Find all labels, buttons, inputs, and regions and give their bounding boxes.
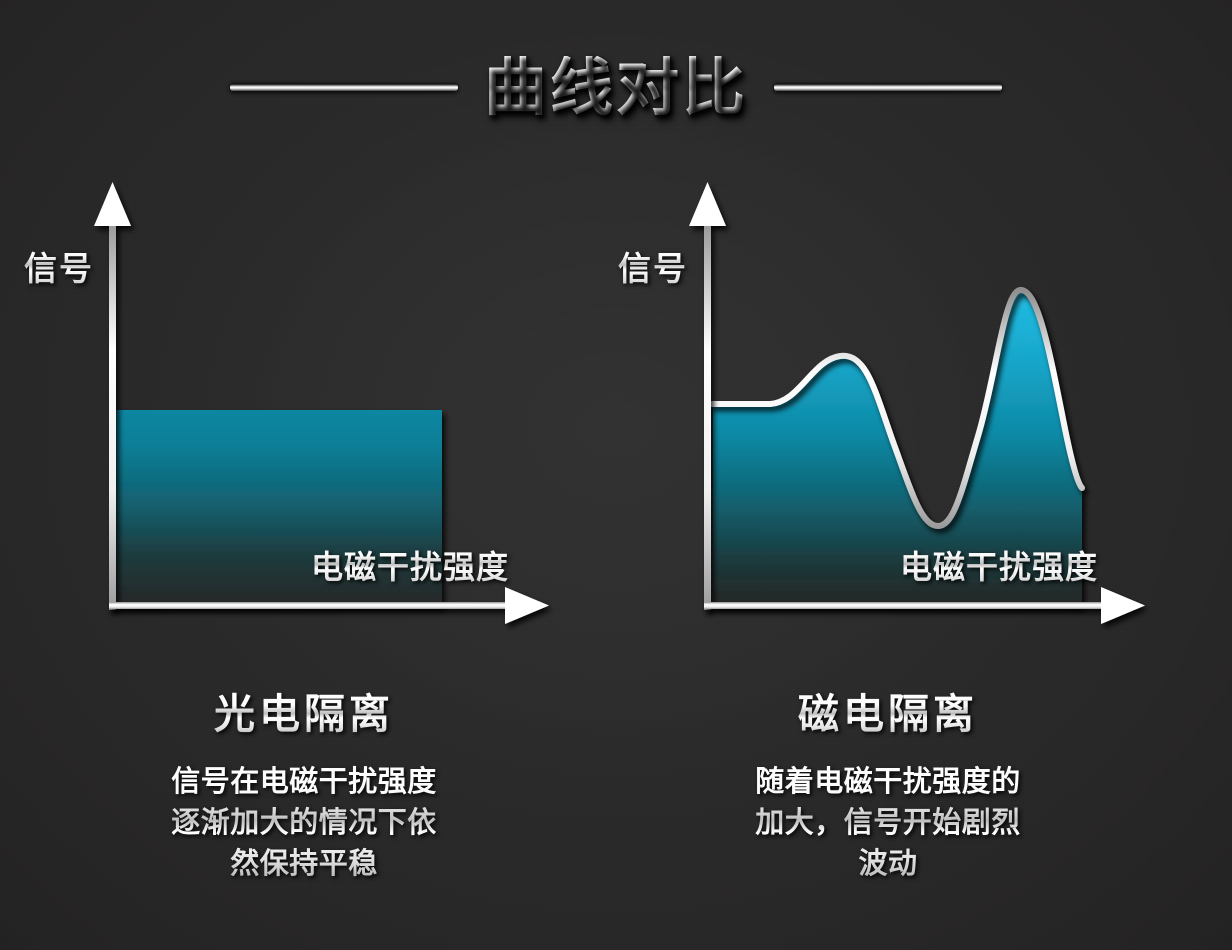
panel-optical-isolation: 信号 电磁干扰强度 光电隔离 信号在电磁干扰强度 逐渐加大的情况下依 然保持平稳 (6, 170, 606, 950)
panel-magnetic-isolation: 信号 电磁干扰强度 磁电隔离 随着电磁干扰强度的 加大，信号开始剧烈 波动 (600, 170, 1200, 950)
x-axis-label: 电磁干扰强度 (900, 542, 1098, 588)
caption-optical: 光电隔离 信号在电磁干扰强度 逐渐加大的情况下依 然保持平稳 (44, 692, 564, 885)
title-rule-right-icon (774, 84, 1002, 91)
y-axis-label: 信号 (24, 242, 94, 290)
y-axis-label: 信号 (618, 242, 688, 290)
caption-line: 信号在电磁干扰强度 (44, 761, 564, 802)
caption-line: 随着电磁干扰强度的 (628, 761, 1148, 802)
slide-root: 曲线对比 (0, 0, 1232, 950)
title-rule-left-icon (230, 84, 458, 91)
chart-optical-isolation (6, 170, 606, 640)
page-title: 曲线对比 (484, 56, 748, 119)
caption-description: 信号在电磁干扰强度 逐渐加大的情况下依 然保持平稳 (44, 761, 564, 885)
caption-title: 磁电隔离 (628, 692, 1148, 737)
caption-line: 逐渐加大的情况下依 (44, 802, 564, 843)
x-axis-label: 电磁干扰强度 (311, 542, 509, 588)
caption-line: 加大，信号开始剧烈 (628, 802, 1148, 843)
caption-title: 光电隔离 (44, 692, 564, 737)
caption-magnetic: 磁电隔离 随着电磁干扰强度的 加大，信号开始剧烈 波动 (628, 692, 1148, 885)
title-bar: 曲线对比 (0, 44, 1232, 130)
caption-line: 然保持平稳 (44, 843, 564, 884)
caption-line: 波动 (628, 843, 1148, 884)
caption-description: 随着电磁干扰强度的 加大，信号开始剧烈 波动 (628, 761, 1148, 885)
